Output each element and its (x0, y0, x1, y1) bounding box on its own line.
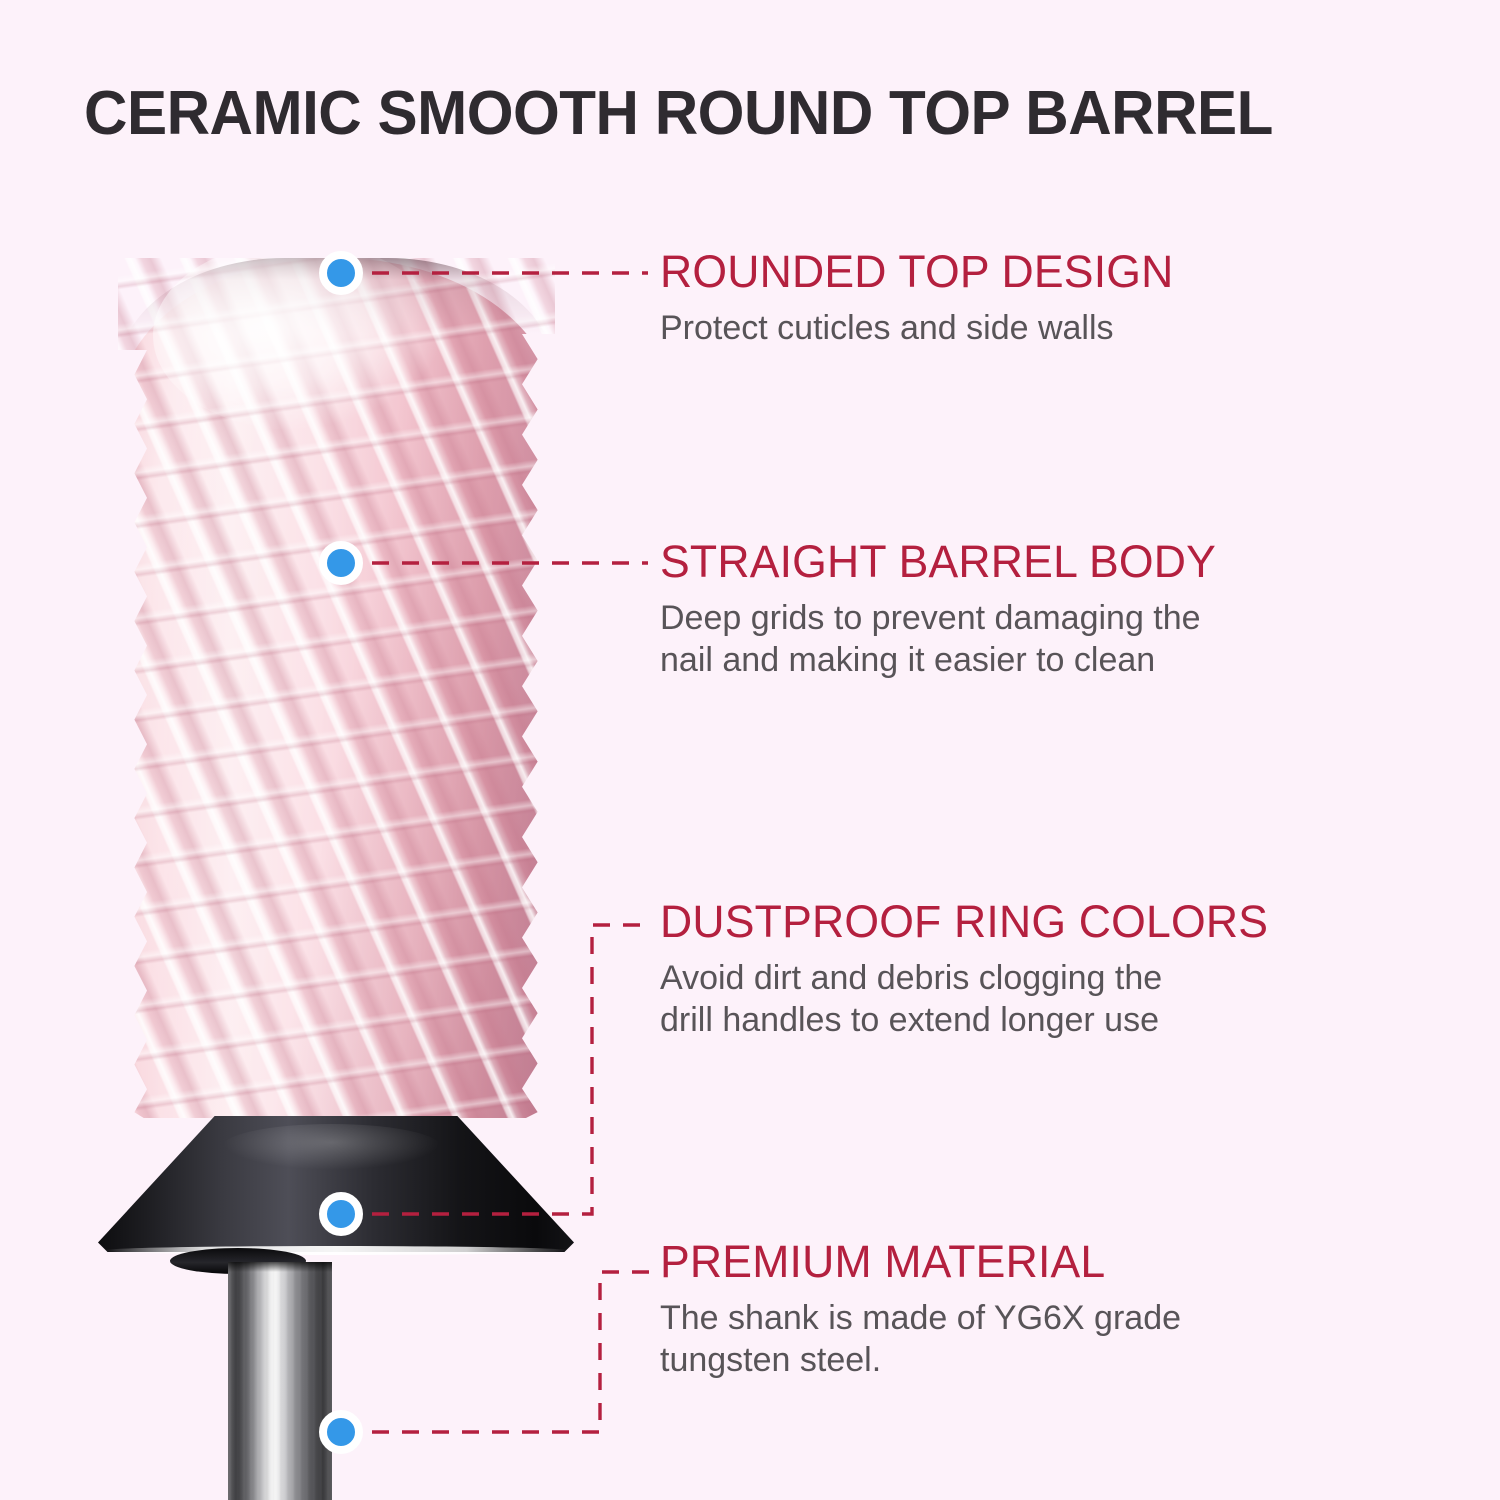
callout-description: Avoid dirt and debris clogging the drill… (660, 957, 1274, 1041)
callout-rounded-top-design: ROUNDED TOP DESIGN Protect cuticles and … (660, 248, 1179, 349)
callout-description: Deep grids to prevent damaging the nail … (660, 597, 1222, 681)
callout-premium-material: PREMIUM MATERIAL The shank is made of YG… (660, 1238, 1181, 1381)
callout-heading: DUSTPROOF RING COLORS (660, 898, 1268, 946)
callout-heading: STRAIGHT BARREL BODY (660, 538, 1216, 586)
marker-dot-barrel-body[interactable] (319, 541, 363, 585)
connector-line-3 (372, 925, 648, 1214)
infographic-canvas: CERAMIC SMOOTH ROUND TOP BARREL (0, 0, 1500, 1500)
marker-dot-shank[interactable] (319, 1410, 363, 1454)
callout-straight-barrel-body: STRAIGHT BARREL BODY Deep grids to preve… (660, 538, 1222, 681)
callout-dustproof-ring-colors: DUSTPROOF RING COLORS Avoid dirt and deb… (660, 898, 1274, 1041)
callout-description: Protect cuticles and side walls (660, 307, 1179, 349)
connector-line-4 (372, 1272, 650, 1432)
marker-dot-dustproof-ring[interactable] (319, 1192, 363, 1236)
callout-heading: PREMIUM MATERIAL (660, 1238, 1176, 1286)
marker-dot-rounded-top[interactable] (319, 251, 363, 295)
callout-heading: ROUNDED TOP DESIGN (660, 248, 1174, 296)
callout-description: The shank is made of YG6X grade tungsten… (660, 1297, 1181, 1381)
